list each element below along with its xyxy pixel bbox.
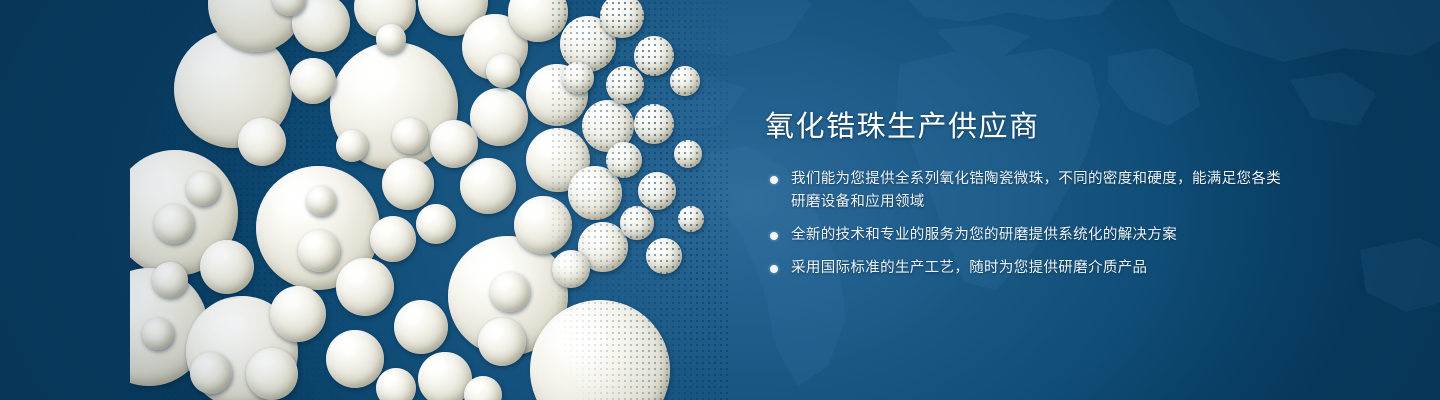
list-item-text: 采用国际标准的生产工艺，随时为您提供研磨介质产品 — [791, 260, 1147, 276]
list-item: 采用国际标准的生产工艺，随时为您提供研磨介质产品 — [765, 257, 1285, 280]
list-item-text: 我们能为您提供全系列氧化锆陶瓷微珠，不同的密度和硬度，能满足您各类研磨设备和应用… — [791, 171, 1281, 210]
banner-content: 氧化锆珠生产供应商 我们能为您提供全系列氧化锆陶瓷微珠，不同的密度和硬度，能满足… — [765, 108, 1285, 280]
benefit-list: 我们能为您提供全系列氧化锆陶瓷微珠，不同的密度和硬度，能满足您各类研磨设备和应用… — [765, 168, 1285, 280]
list-item: 全新的技术和专业的服务为您的研磨提供系统化的解决方案 — [765, 224, 1285, 247]
hero-banner: 氧化锆珠生产供应商 我们能为您提供全系列氧化锆陶瓷微珠，不同的密度和硬度，能满足… — [0, 0, 1440, 400]
banner-headline: 氧化锆珠生产供应商 — [765, 108, 1285, 146]
list-item-text: 全新的技术和专业的服务为您的研磨提供系统化的解决方案 — [791, 227, 1177, 243]
list-item: 我们能为您提供全系列氧化锆陶瓷微珠，不同的密度和硬度，能满足您各类研磨设备和应用… — [765, 168, 1285, 214]
bullet-dot-icon — [770, 176, 778, 184]
bullet-dot-icon — [770, 265, 778, 273]
bullet-dot-icon — [770, 232, 778, 240]
